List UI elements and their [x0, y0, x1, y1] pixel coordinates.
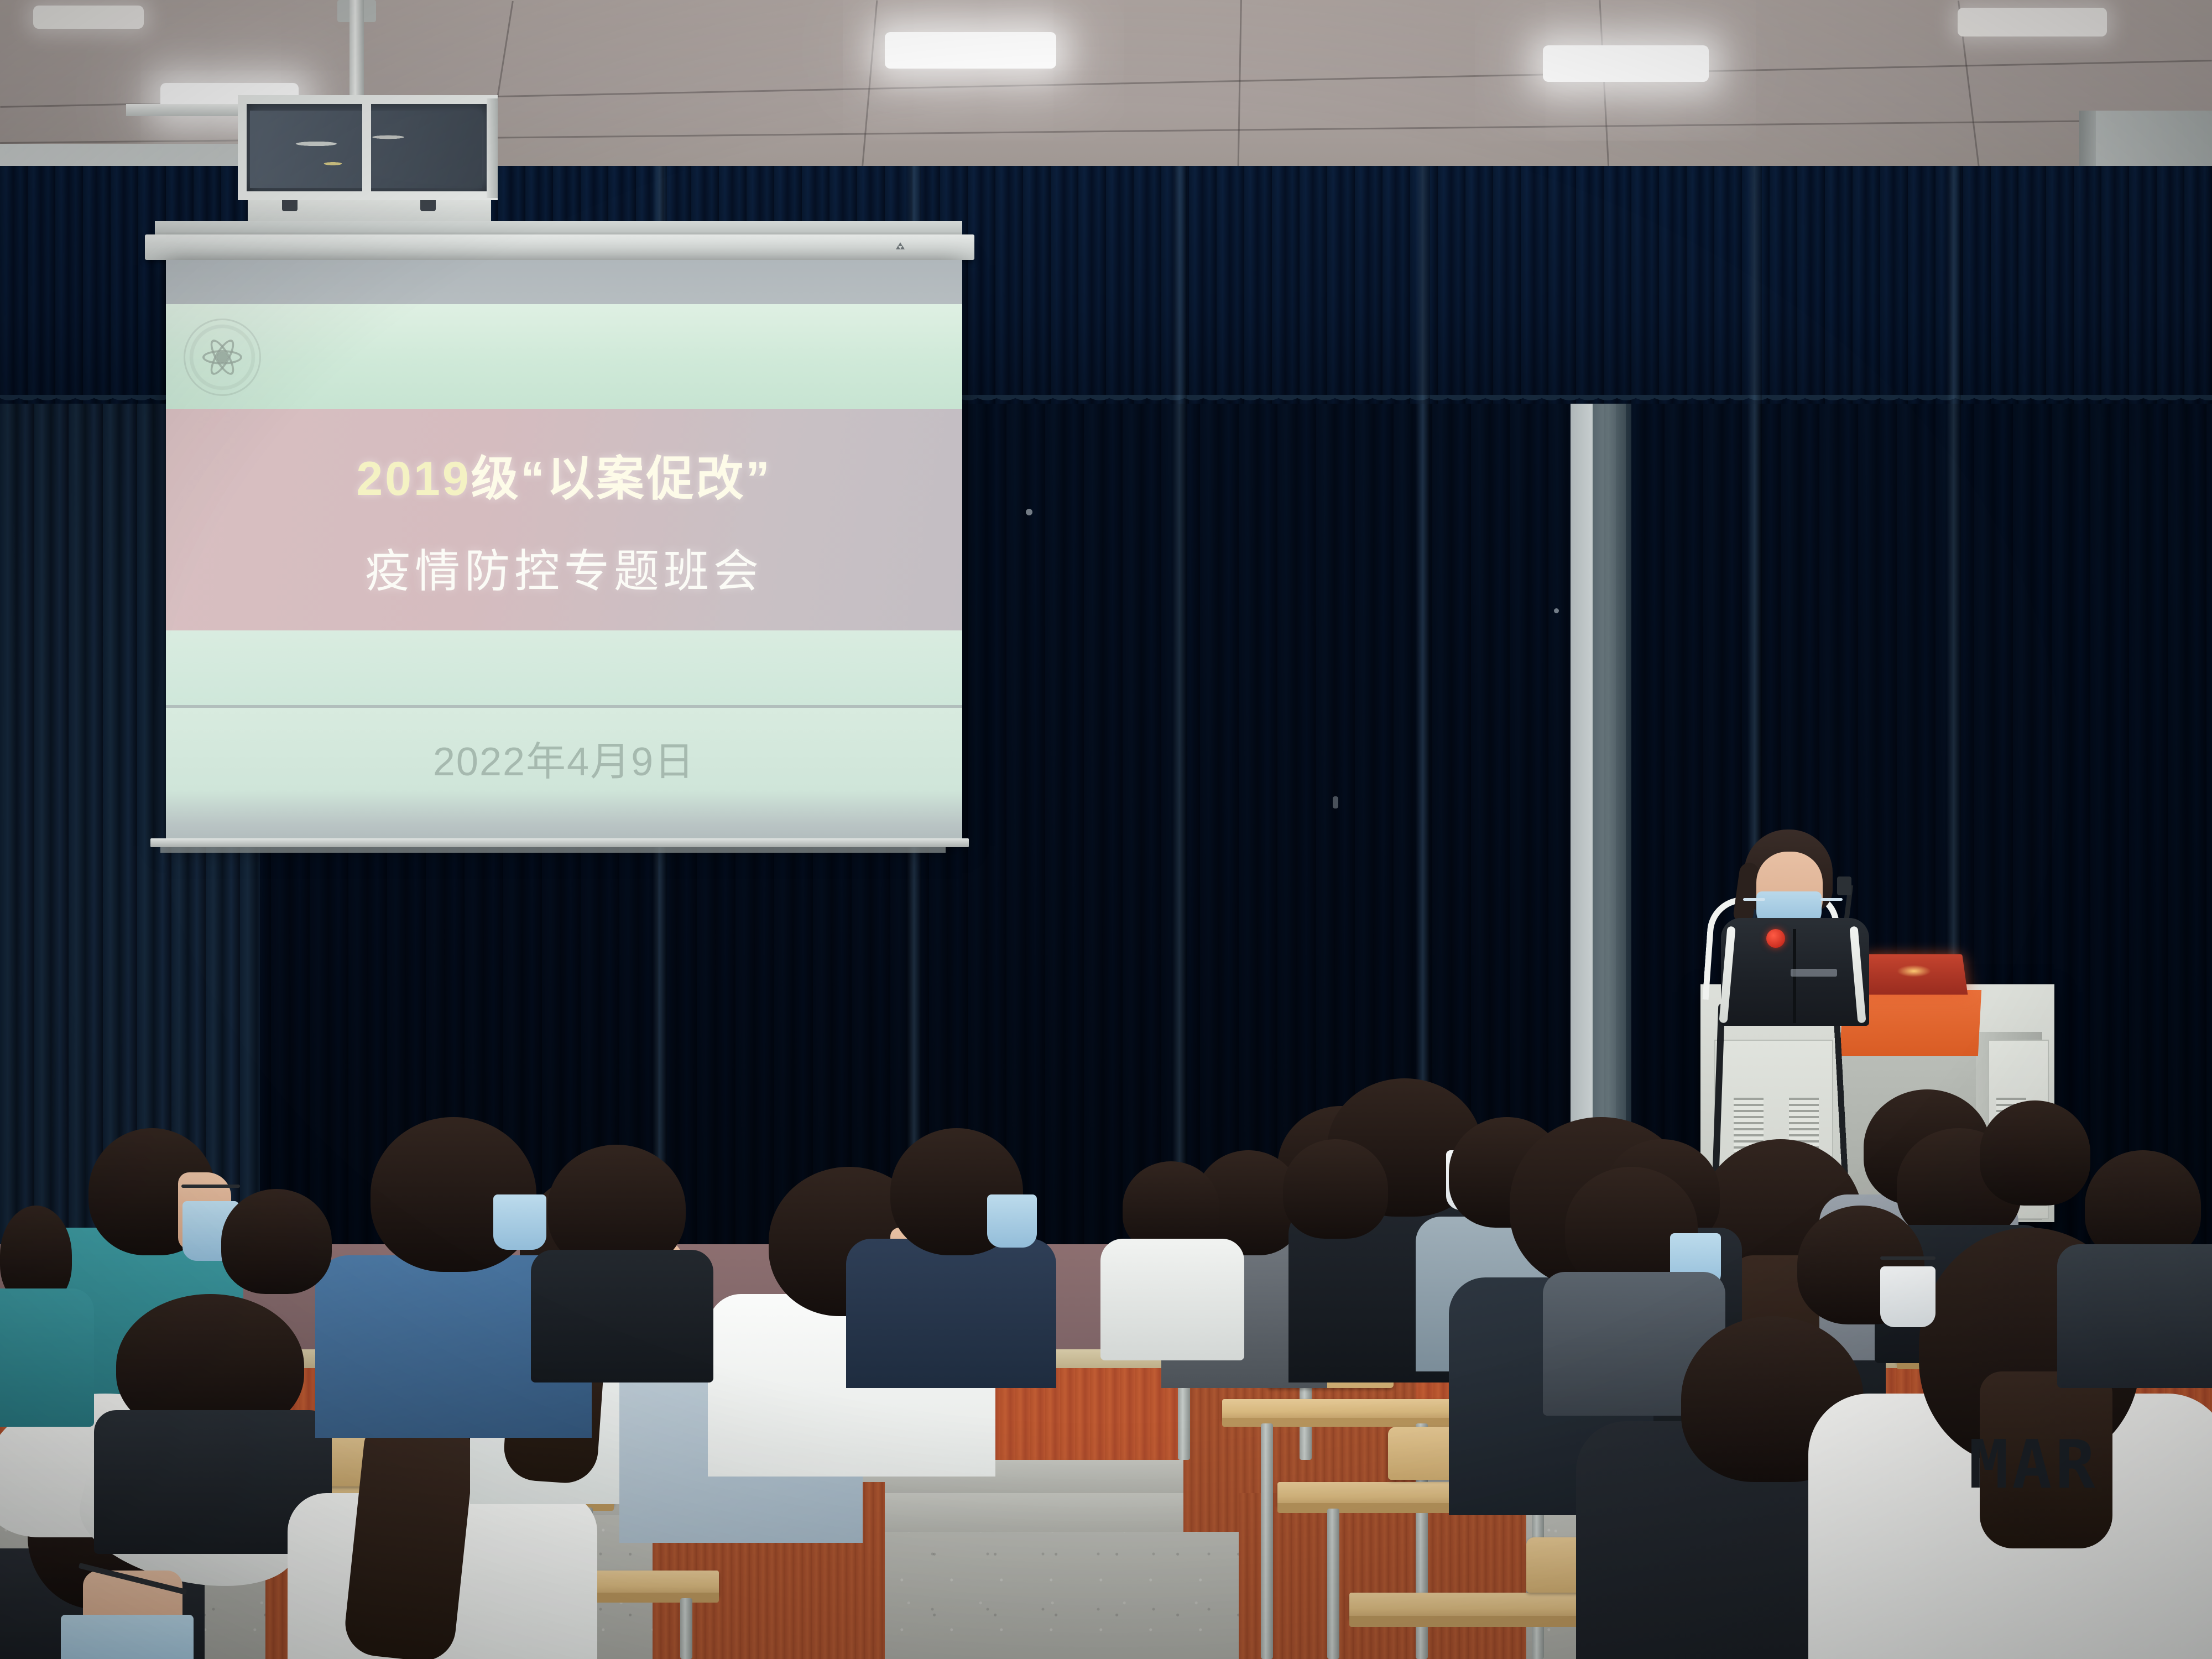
screen-brand-logo	[896, 242, 908, 249]
face-mask	[1880, 1266, 1936, 1327]
face-mask	[61, 1615, 194, 1659]
ceiling-light-panel	[885, 32, 1056, 69]
lecture-desk	[1222, 1399, 1454, 1420]
projection-screen: 2019级“以案促改” 疫情防控专题班会 2022年4月9日	[166, 260, 962, 841]
slide-band-top	[166, 260, 962, 304]
eyeglasses	[181, 1185, 240, 1188]
hoodie-graphic-text: MAR	[1969, 1427, 2099, 1504]
presenter-badge	[1766, 929, 1785, 948]
slide-title-rest: 级“以案促改”	[471, 452, 772, 505]
presenter	[1709, 830, 1886, 1018]
three-diamond-logo	[896, 242, 904, 249]
lecture-hall-photo: 2019级“以案促改” 疫情防控专题班会 2022年4月9日	[0, 0, 2212, 1659]
university-emblem-logo	[184, 319, 261, 396]
ponytail	[342, 1422, 477, 1659]
atom-icon	[200, 335, 244, 379]
slide-band-pink: 2019级“以案促改” 疫情防控专题班会	[166, 409, 962, 630]
presenter-jacket-logo	[1791, 969, 1837, 977]
projector-cage-bracket	[487, 98, 498, 198]
face-mask	[987, 1194, 1037, 1248]
slide-title-year: 2019	[356, 452, 471, 505]
slide-band-mint-top	[166, 304, 962, 409]
ceiling-light-panel	[1958, 8, 2107, 36]
face-mask	[493, 1194, 546, 1250]
desk-front-panel	[1239, 1493, 1526, 1659]
ceiling-light-panel	[1543, 45, 1709, 82]
screen-housing-bar	[145, 234, 974, 260]
ceiling-light-panel	[33, 6, 144, 29]
slide-band-mint-bottom: 2022年4月9日	[166, 708, 962, 841]
podium-monitor-glow	[1897, 965, 1931, 977]
slide-title-line-2: 疫情防控专题班会	[365, 534, 763, 600]
projector-cage-divider	[362, 95, 371, 200]
presentation-slide: 2019级“以案促改” 疫情防控专题班会 2022年4月9日	[166, 260, 962, 841]
slide-title-line-1: 2019级“以案促改”	[356, 440, 771, 509]
slide-date: 2022年4月9日	[433, 729, 695, 787]
screen-bottom-weight-bar	[150, 838, 969, 847]
screen-bottom-shadow	[160, 847, 946, 853]
slide-band-mint-mid	[166, 630, 962, 705]
eyeglasses	[1880, 1256, 1936, 1260]
